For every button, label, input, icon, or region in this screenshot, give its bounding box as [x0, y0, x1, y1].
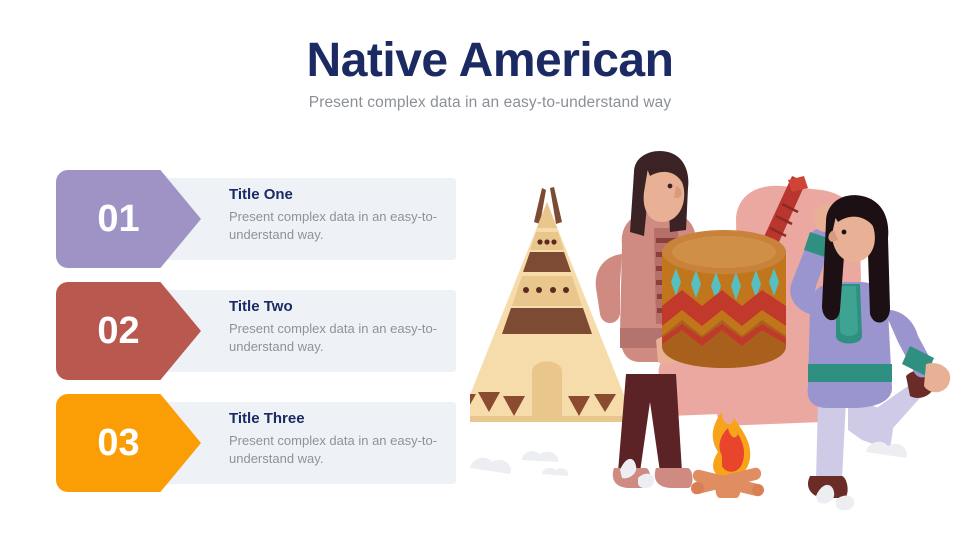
list-item-title: Title One [229, 186, 454, 204]
hand-drum-icon [662, 230, 786, 368]
list-item-number: 02 [97, 310, 139, 353]
list-item-number: 01 [97, 198, 139, 241]
list-item-description: Present complex data in an easy-to-under… [229, 320, 454, 357]
slide-header: Native American Present complex data in … [0, 36, 980, 112]
list-item-description: Present complex data in an easy-to-under… [229, 208, 454, 245]
list-item-title: Title Two [229, 298, 454, 316]
list-item[interactable]: 02 Title Two Present complex data in an … [56, 282, 456, 380]
campfire-icon [691, 412, 764, 498]
slide-root: Native American Present complex data in … [0, 0, 980, 551]
list-item-number: 03 [97, 422, 139, 465]
list-item-text: Title Two Present complex data in an eas… [229, 298, 454, 357]
page-title: Native American [0, 36, 980, 86]
page-subtitle: Present complex data in an easy-to-under… [0, 94, 980, 112]
list-item[interactable]: 03 Title Three Present complex data in a… [56, 394, 456, 492]
list-item-description: Present complex data in an easy-to-under… [229, 432, 454, 469]
list-item-text: Title One Present complex data in an eas… [229, 186, 454, 245]
native-american-illustration [470, 150, 970, 520]
list-item[interactable]: 01 Title One Present complex data in an … [56, 170, 456, 268]
list-item-text: Title Three Present complex data in an e… [229, 410, 454, 469]
numbered-list: 01 Title One Present complex data in an … [56, 170, 456, 506]
list-item-title: Title Three [229, 410, 454, 428]
